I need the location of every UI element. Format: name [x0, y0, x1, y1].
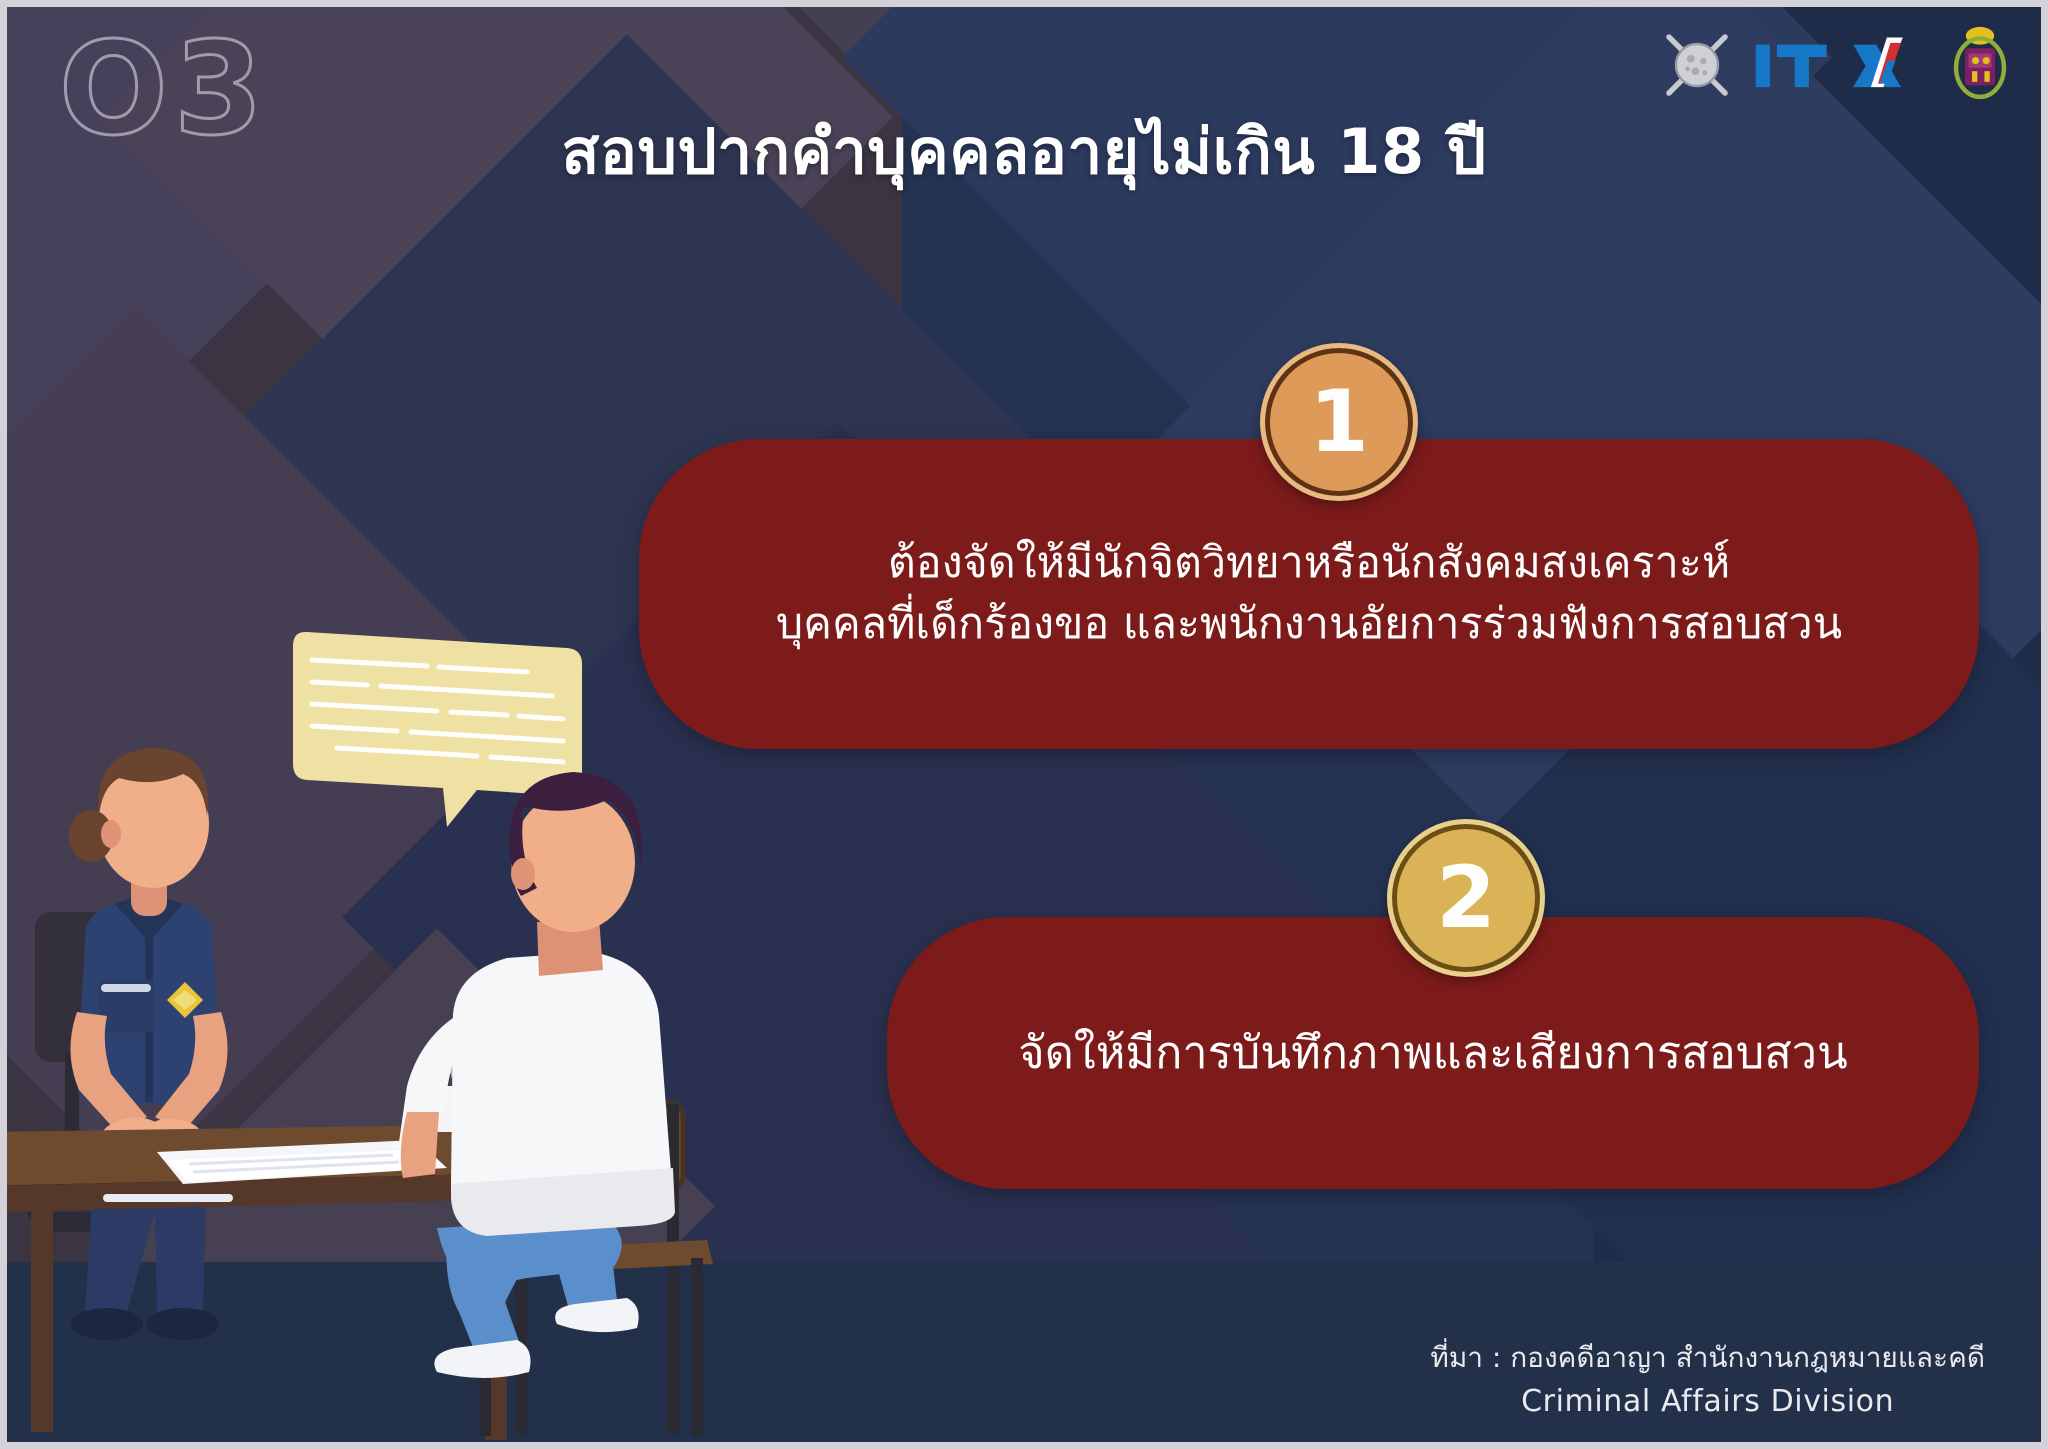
card-2-line-1: จัดให้มีการบันทึกภาพและเสียงการสอบสวน — [1018, 1021, 1848, 1085]
youth-figure — [399, 772, 675, 1378]
ita-logo-icon — [1754, 34, 1931, 96]
infographic-slide: O3 สอบปากคำบุคคลอายุไม่เกิน 18 ปี — [0, 0, 2048, 1449]
police-interview-illustration — [7, 612, 827, 1442]
card-1-line-2: บุคคลที่เด็กร้องขอ และพนักงานอัยการร่วมฟ… — [776, 594, 1842, 655]
page-title: สอบปากคำบุคคลอายุไม่เกิน 18 ปี — [7, 103, 2041, 201]
badge-number-1: 1 — [1260, 343, 1418, 501]
badge-number-2: 2 — [1387, 819, 1545, 977]
police-officer-figure — [69, 748, 228, 1340]
footer-credit: ที่มา : กองคดีอาญา สำนักงานกฎหมายและคดี … — [1430, 1337, 1985, 1424]
royal-thai-police-mace-emblem-icon — [1658, 26, 1736, 104]
footer-source-thai: ที่มา : กองคดีอาญา สำนักงานกฎหมายและคดี — [1430, 1337, 1985, 1379]
logo-group — [1658, 25, 2011, 105]
royal-thai-police-emblem-icon — [1949, 25, 2011, 105]
footer-source-english: Criminal Affairs Division — [1430, 1379, 1985, 1424]
card-1-line-1: ต้องจัดให้มีนักจิตวิทยาหรือนักสังคมสงเคร… — [888, 533, 1730, 594]
